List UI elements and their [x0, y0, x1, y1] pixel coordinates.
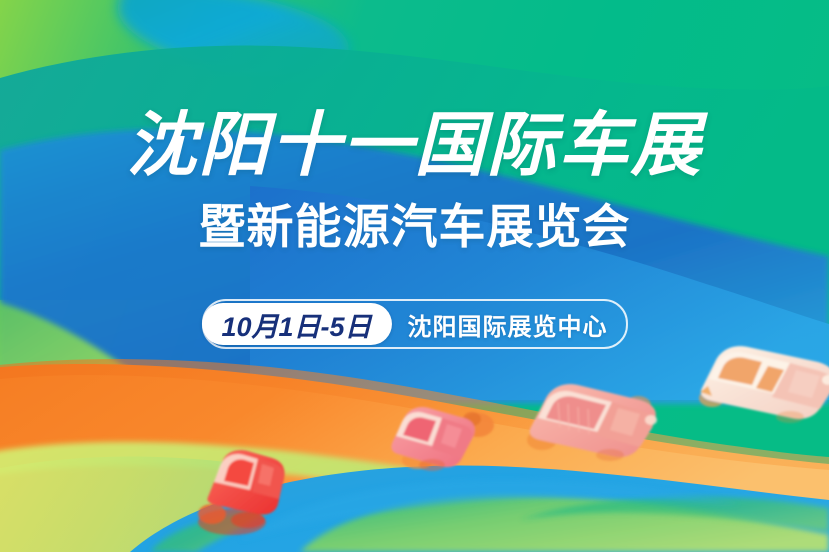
event-info-bar: 10月1日-5日 沈阳国际展览中心 [201, 299, 627, 349]
poster-background-art [0, 0, 829, 552]
event-venue-label: 沈阳国际展览中心 [408, 307, 608, 342]
auto-show-poster: 沈阳十一国际车展 暨新能源汽车展览会 10月1日-5日 沈阳国际展览中心 [0, 0, 829, 552]
event-date-badge: 10月1日-5日 [201, 303, 391, 345]
